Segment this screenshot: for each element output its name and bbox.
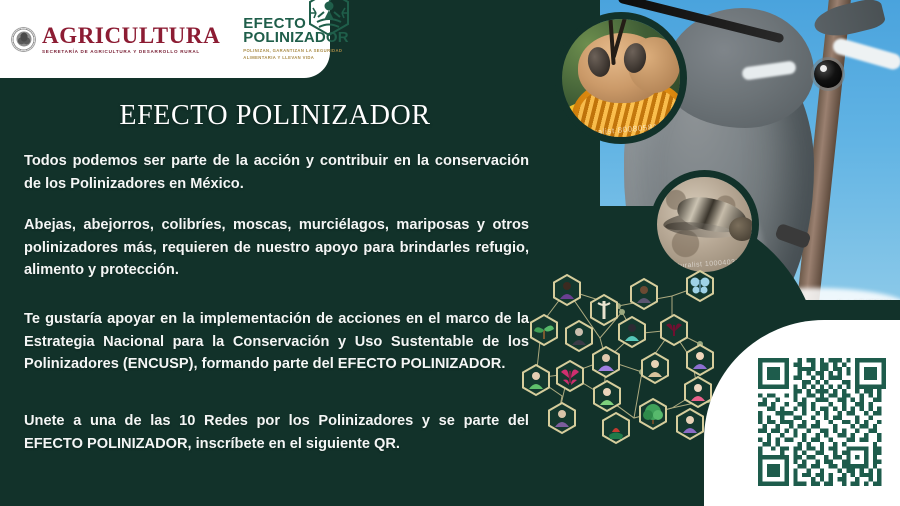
page-title: EFECTO POLINIZADOR [90, 100, 460, 132]
beekeeper-hexagon-icon [305, 0, 353, 41]
poster-root: inaturalist 1545539 inaturalist 80080581… [0, 0, 900, 506]
paragraph-3-block: Te gustaría apoyar en la implementación … [24, 308, 529, 376]
paragraph-2: Abejas, abejorros, colibríes, moscas, mu… [24, 214, 529, 282]
bird-face-stripe-left [741, 60, 796, 80]
bird-eye [814, 60, 842, 88]
paragraph-4-block: Unete a una de las 10 Redes por los Poli… [24, 410, 529, 455]
paragraph-2-block: Abejas, abejorros, colibríes, moscas, mu… [24, 214, 529, 282]
header-logo-panel: AGRICULTURA SECRETARÍA DE AGRICULTURA Y … [0, 0, 330, 78]
paragraph-3: Te gustaría apoyar en la implementación … [24, 308, 529, 376]
mexico-coat-of-arms-icon [10, 26, 37, 53]
bee-on-flower-photo: inaturalist 80080581 [555, 12, 687, 144]
agriculture-subtitle: SECRETARÍA DE AGRICULTURA Y DESARROLLO R… [42, 50, 220, 55]
hoverfly-photo: inaturalist 100040336 [650, 170, 759, 279]
efecto-polinizador-logo: EFECTO POLINIZADOR POLINIZAN, GARANTIZAN… [243, 17, 349, 61]
registration-qr-code[interactable] [758, 358, 886, 486]
fly-head [729, 217, 755, 241]
paragraph-1: Todos podemos ser parte de la acción y c… [24, 150, 529, 195]
paragraph-4: Unete a una de las 10 Redes por los Poli… [24, 410, 529, 455]
agriculture-logo: AGRICULTURA SECRETARÍA DE AGRICULTURA Y … [0, 24, 220, 55]
efecto-subtitle: POLINIZAN, GARANTIZAN LA SEGURIDAD ALIME… [243, 48, 349, 61]
agriculture-title: AGRICULTURA [42, 24, 220, 47]
agriculture-logo-text: AGRICULTURA SECRETARÍA DE AGRICULTURA Y … [42, 24, 220, 55]
paragraph-1-block: Todos podemos ser parte de la acción y c… [24, 150, 529, 195]
